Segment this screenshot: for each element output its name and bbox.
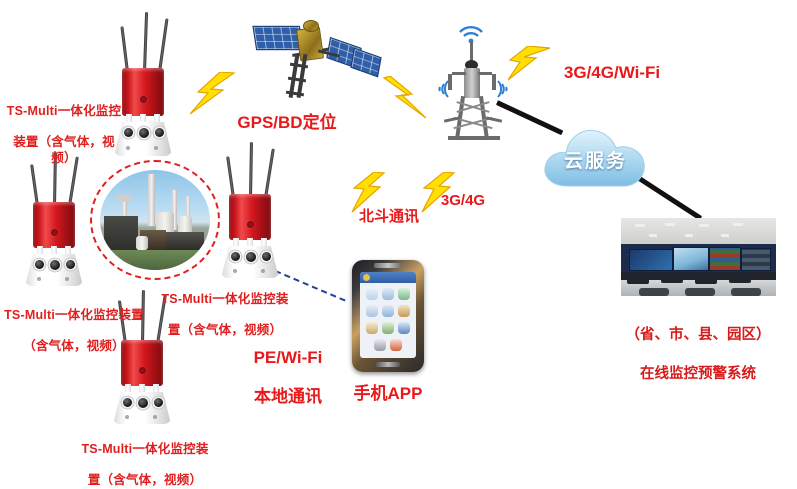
tower-node bbox=[428, 22, 520, 146]
label-line-1: TS-Multi一体化监控装 bbox=[161, 292, 288, 306]
control-room-image bbox=[621, 218, 776, 296]
signal-right-icon bbox=[494, 78, 512, 100]
satellite-node bbox=[248, 8, 380, 104]
label-line-1: （省、市、县、园区） bbox=[626, 327, 771, 343]
label-line-2: 本地通讯 bbox=[254, 387, 322, 406]
label-line-1: TS-Multi一体化监控装 bbox=[81, 442, 208, 456]
label-wireless: 3G/4G/Wi-Fi bbox=[542, 62, 682, 83]
label-line-1: PE/Wi-Fi bbox=[254, 348, 323, 367]
bolt-satellite-downlink bbox=[382, 76, 432, 122]
label-line-2: 装置（含气体，视频） bbox=[13, 135, 115, 165]
label-gps: GPS/BD定位 bbox=[222, 112, 352, 133]
wifi-icon bbox=[456, 22, 486, 44]
handheld-terminal[interactable] bbox=[352, 260, 424, 372]
label-line-2: 在线监控预警系统 bbox=[640, 366, 756, 382]
label-line-1: TS-Multi一体化监控 bbox=[7, 104, 121, 118]
label-beidou: 北斗通讯 bbox=[344, 208, 434, 227]
label-line-2: 置（含气体，视频） bbox=[88, 473, 202, 487]
diagram-canvas: 云服务 bbox=[0, 0, 797, 464]
monitoring-device-mid-left bbox=[22, 152, 92, 292]
label-line-2: （含气体，视频） bbox=[23, 339, 125, 353]
label-cellular: 3G/4G bbox=[428, 192, 498, 211]
label-device-top-left: TS-Multi一体化监控 装置（含气体，视频） bbox=[2, 88, 126, 166]
phone-screen[interactable] bbox=[360, 272, 416, 358]
label-line-1: TS-Multi一体化监控装置 bbox=[4, 308, 144, 322]
highlight-circle bbox=[90, 160, 220, 280]
label-phone-app: 手机APP bbox=[340, 383, 436, 404]
signal-left-icon bbox=[434, 78, 452, 100]
cloud-service-node: 云服务 bbox=[538, 118, 658, 192]
label-local-comm: PE/Wi-Fi 本地通讯 bbox=[236, 328, 340, 406]
label-device-bottom: TS-Multi一体化监控装 置（含气体，视频） bbox=[78, 426, 212, 489]
monitoring-device-mid-right bbox=[218, 140, 288, 280]
label-control-room: （省、市、县、园区） 在线监控预警系统 bbox=[598, 306, 797, 384]
cloud-label: 云服务 bbox=[564, 146, 627, 173]
plant-photo-group bbox=[90, 160, 220, 280]
label-device-mid-left: TS-Multi一体化监控装置 （含气体，视频） bbox=[0, 292, 148, 355]
